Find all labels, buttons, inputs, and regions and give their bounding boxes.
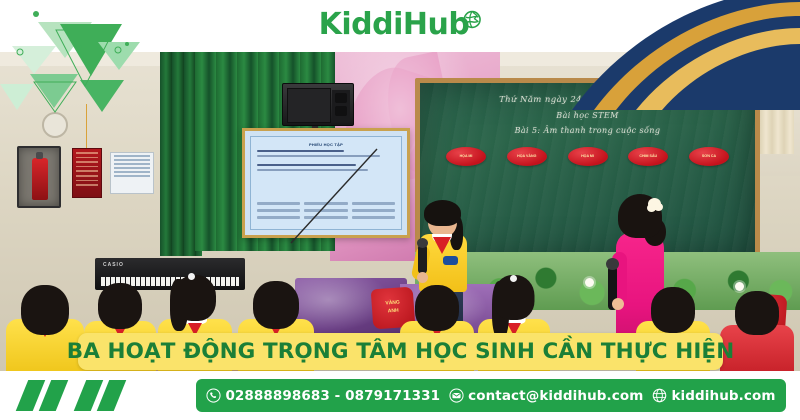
footer-bar: 02888898683 - 0879171331 contact@kiddihu… <box>0 371 800 420</box>
student-hair <box>424 200 461 226</box>
envelope-icon <box>449 388 464 403</box>
group-badge: CHIM SÂU <box>628 147 668 166</box>
contact-phone[interactable]: 02888898683 - 0879171331 <box>206 388 440 404</box>
group-badge: HỌA VÀNG <box>507 147 547 166</box>
blackboard-line-2: Bài học STEM <box>420 108 755 123</box>
speaker-grill <box>287 88 331 123</box>
globe-icon <box>652 388 667 403</box>
loudspeaker <box>282 83 354 126</box>
pointer-stick <box>245 131 420 251</box>
poster-root: Thứ Năm ngày 24 tháng 10 năm 2024 Bài họ… <box>0 0 800 420</box>
email-address: contact@kiddihub.com <box>468 388 643 404</box>
blackboard-group-badges: HỌA MI HỌA VÀNG HỌA MI CHIM SÂU SƠN CA <box>428 147 747 166</box>
kiddihub-logo[interactable]: KiddiHub <box>319 9 482 41</box>
student-red-scarf <box>433 237 451 254</box>
blackboard-line-3: Bài 5: Âm thanh trong cuộc sống <box>420 123 755 138</box>
phone-icon <box>206 388 221 403</box>
globe-icon <box>462 10 481 29</box>
group-badge: HỌA MI <box>446 147 486 166</box>
banner-title: BA HOẠT ĐỘNG TRỌNG TÂM HỌC SINH CẦN THỰC… <box>67 339 735 364</box>
logo-text: KiddiHub <box>319 9 470 41</box>
blackboard-line-1: Thứ Năm ngày 24 tháng 10 năm 2024 <box>420 93 755 108</box>
projector-screen: PHIẾU HỌC TẬP <box>242 128 410 238</box>
contact-bar: 02888898683 - 0879171331 contact@kiddihu… <box>196 379 786 412</box>
white-wall-poster <box>110 152 154 194</box>
fire-extinguisher-cabinet <box>17 146 61 208</box>
speaker-side <box>332 90 350 121</box>
phone-number: 02888898683 - 0879171331 <box>225 388 440 404</box>
website-url: kiddihub.com <box>671 388 775 404</box>
hair-flower-icon <box>648 198 661 210</box>
group-badge: HỌA MI <box>568 147 608 166</box>
hanging-cord <box>86 104 87 150</box>
classroom-photo: Thứ Năm ngày 24 tháng 10 năm 2024 Bài họ… <box>0 26 800 371</box>
fire-extinguisher <box>32 158 48 200</box>
title-banner: BA HOẠT ĐỘNG TRỌNG TÂM HỌC SINH CẦN THỰC… <box>78 333 723 370</box>
contact-email[interactable]: contact@kiddihub.com <box>449 388 643 404</box>
slash-decoration <box>22 380 120 411</box>
contact-website[interactable]: kiddihub.com <box>652 388 775 404</box>
group-badge: SƠN CA <box>689 147 729 166</box>
student-badge <box>443 256 458 265</box>
wall-clock <box>42 112 68 138</box>
blackboard-text: Thứ Năm ngày 24 tháng 10 năm 2024 Bài họ… <box>420 93 755 138</box>
red-wall-poster <box>72 148 102 198</box>
